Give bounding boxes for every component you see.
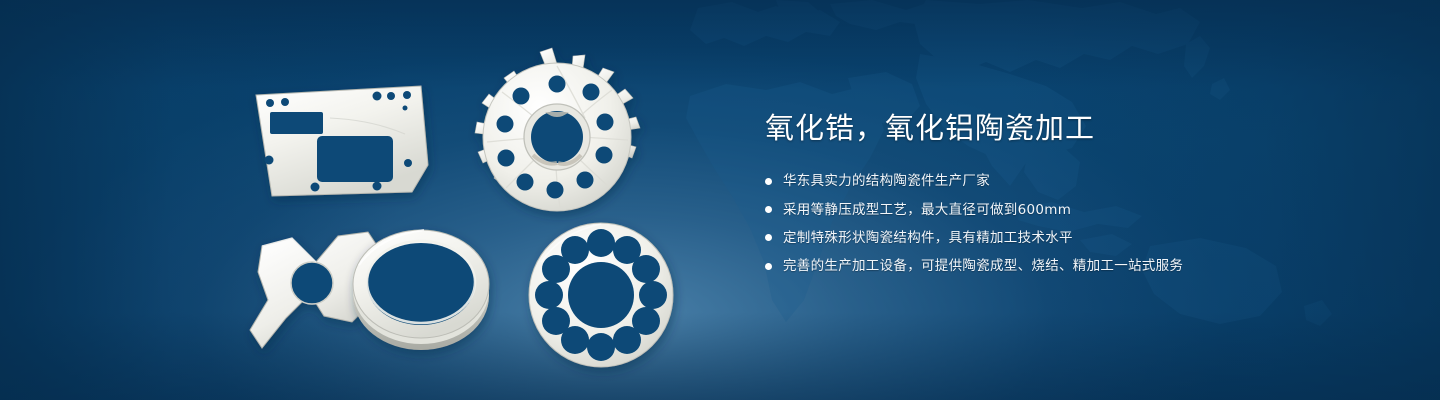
bullet-dot-icon xyxy=(765,234,772,241)
banner-copy: 氧化锆，氧化铝陶瓷加工 华东具实力的结构陶瓷件生产厂家 采用等静压成型工艺，最大… xyxy=(765,112,1385,284)
list-item: 定制特殊形状陶瓷结构件，具有精加工技术水平 xyxy=(765,228,1385,248)
bullet-dot-icon xyxy=(765,178,772,185)
bullet-text: 定制特殊形状陶瓷结构件，具有精加工技术水平 xyxy=(783,228,1073,248)
promo-banner: 氧化锆，氧化铝陶瓷加工 华东具实力的结构陶瓷件生产厂家 采用等静压成型工艺，最大… xyxy=(0,0,1440,400)
list-item: 华东具实力的结构陶瓷件生产厂家 xyxy=(765,171,1385,191)
product-photo-group xyxy=(0,0,760,400)
ceramic-rings-stack xyxy=(353,230,489,350)
banner-headline: 氧化锆，氧化铝陶瓷加工 xyxy=(765,112,1385,145)
feature-bullet-list: 华东具实力的结构陶瓷件生产厂家 采用等静压成型工艺，最大直径可做到600mm 定… xyxy=(765,171,1385,276)
list-item: 完善的生产加工设备，可提供陶瓷成型、烧结、精加工一站式服务 xyxy=(765,256,1385,276)
ceramic-machined-plate xyxy=(256,86,428,196)
bullet-text: 完善的生产加工设备，可提供陶瓷成型、烧结、精加工一站式服务 xyxy=(783,256,1183,276)
ceramic-perforated-flange xyxy=(529,223,673,367)
ceramic-impeller-disc xyxy=(475,48,640,211)
list-item: 采用等静压成型工艺，最大直径可做到600mm xyxy=(765,200,1385,220)
bullet-text: 华东具实力的结构陶瓷件生产厂家 xyxy=(783,171,990,191)
bullet-dot-icon xyxy=(765,206,772,213)
bullet-dot-icon xyxy=(765,263,772,270)
bullet-text: 采用等静压成型工艺，最大直径可做到600mm xyxy=(783,200,1071,220)
